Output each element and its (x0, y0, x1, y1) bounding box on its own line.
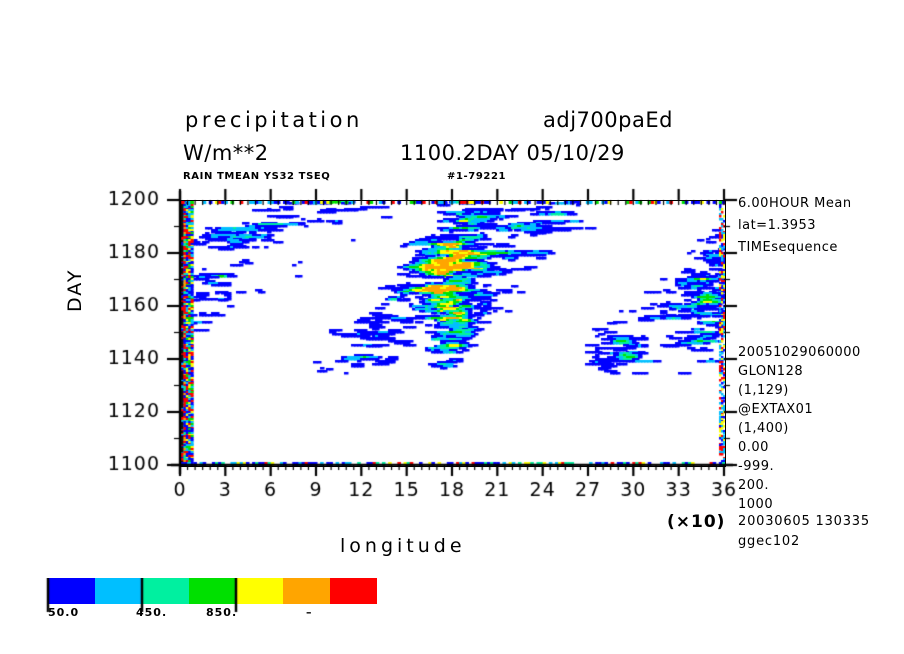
annotation-mid-3: @EXTAX01 (738, 402, 813, 417)
dataset-stamp: RAIN TMEAN YS32 TSEQ (183, 171, 330, 182)
dataset-label: adj700paEd (543, 108, 673, 132)
annotation-mid-5: 0.00 (738, 440, 769, 455)
colorbar-label-0: 50.0 (48, 606, 79, 619)
record-id: #1-79221 (447, 171, 506, 182)
colorbar-label-1: 450. (136, 606, 167, 619)
colorbar-label-3: – (306, 606, 313, 619)
annotation-top-2: TIMEsequence (738, 240, 838, 255)
annotation-top-1: lat=1.3953 (738, 218, 816, 233)
x-axis-multiplier: (×10) (667, 512, 725, 532)
page-title: precipitation (185, 108, 363, 132)
annotation-top-0: 6.00HOUR Mean (738, 196, 852, 211)
annotation-mid-1: GLON128 (738, 364, 803, 379)
colorbar-label-2: 850. (206, 606, 237, 619)
generation-timestamp: 20030605 130335 (738, 514, 870, 529)
annotation-mid-4: (1,400) (738, 421, 789, 436)
x-axis-title: longitude (340, 535, 466, 557)
units-label: W/m**2 (183, 141, 269, 165)
annotation-mid-7: 200. (738, 478, 769, 493)
colorbar-ticks (40, 578, 340, 618)
y-axis-title: DAY (64, 269, 86, 312)
annotation-mid-2: (1,129) (738, 383, 789, 398)
precipitation-field (181, 201, 725, 466)
annotation-mid-6: -999. (738, 459, 774, 474)
hovmoller-plot-area (180, 200, 726, 467)
annotation-mid-0: 20051029060000 (738, 345, 861, 360)
time-label: 1100.2DAY 05/10/29 (400, 141, 625, 165)
annotation-mid-8: 1000 (738, 497, 773, 512)
generation-user: ggec102 (738, 534, 800, 549)
